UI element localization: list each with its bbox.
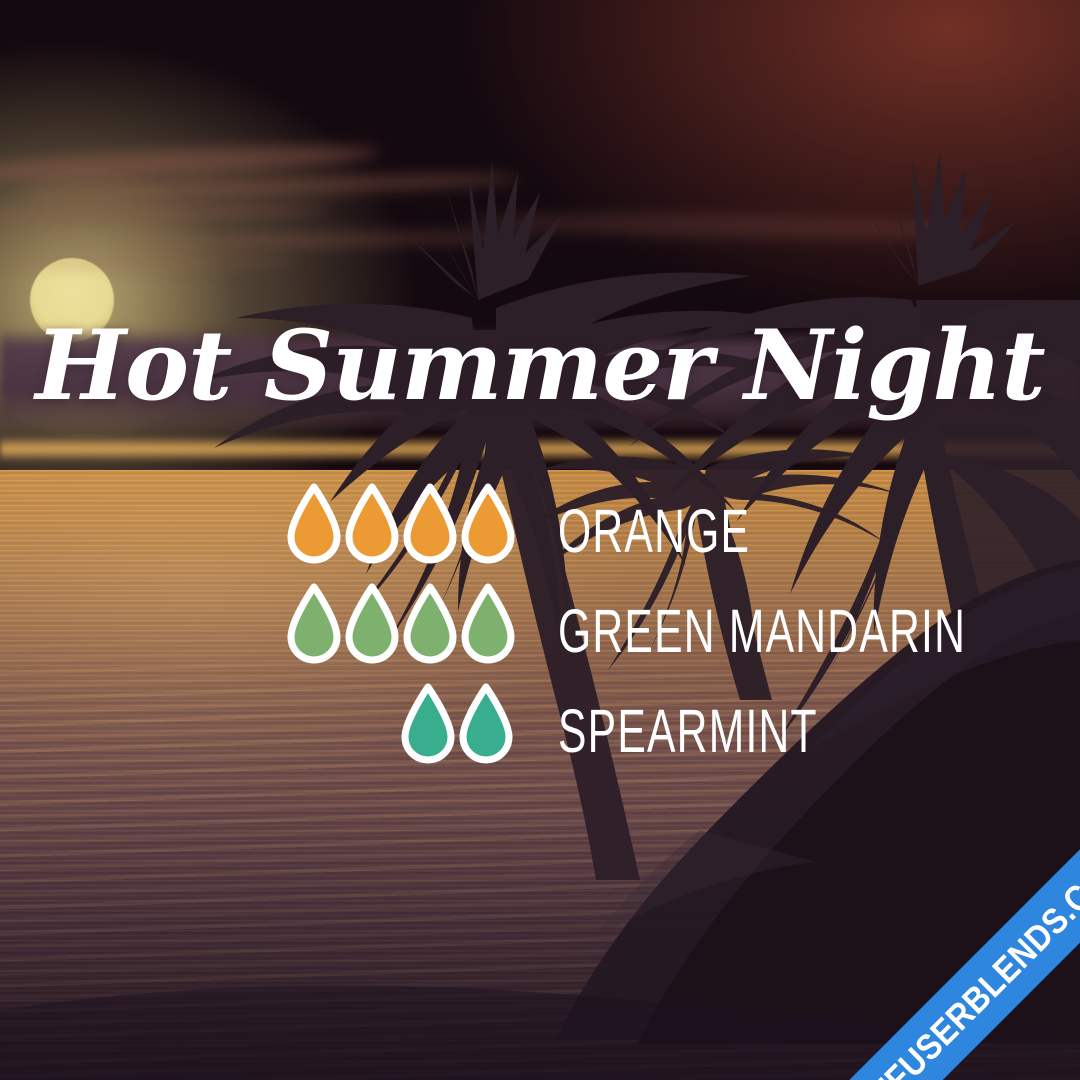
- oil-drop-icon: [398, 682, 458, 768]
- corner-ribbon[interactable]: DIFFUSERBLENDS.COM: [780, 780, 1080, 1080]
- page-title: Hot Summer Night: [0, 318, 1080, 414]
- oil-drop-icon: [400, 482, 460, 568]
- oil-name-orange: ORANGE: [558, 506, 792, 558]
- oil-drop-icon: [456, 682, 516, 768]
- drop-group-orange: [284, 482, 516, 568]
- oil-drop-icon: [458, 482, 518, 568]
- oil-drop-icon: [458, 582, 518, 668]
- blend-recipe-list: ORANGE GREEN: [284, 482, 1024, 782]
- poster-content: Hot Summer Night: [0, 0, 1080, 1080]
- oil-drop-icon: [342, 582, 402, 668]
- drop-group-spearmint: [398, 682, 514, 768]
- blend-row-orange: ORANGE: [284, 482, 1024, 582]
- oil-drop-icon: [400, 582, 460, 668]
- ribbon-website-label: DIFFUSERBLENDS.COM: [839, 839, 1080, 1080]
- blend-row-green-mandarin: GREEN MANDARIN: [284, 582, 1024, 682]
- oil-drop-icon: [284, 582, 344, 668]
- blend-row-spearmint: SPEARMINT: [284, 682, 1024, 782]
- oil-name-green-mandarin: GREEN MANDARIN: [558, 606, 1056, 658]
- oil-drop-icon: [342, 482, 402, 568]
- diffuser-blend-poster: Hot Summer Night: [0, 0, 1080, 1080]
- oil-name-spearmint: SPEARMINT: [558, 706, 875, 758]
- oil-drop-icon: [284, 482, 344, 568]
- ribbon-band[interactable]: DIFFUSERBLENDS.COM: [802, 802, 1080, 1080]
- drop-group-green-mandarin: [284, 582, 516, 668]
